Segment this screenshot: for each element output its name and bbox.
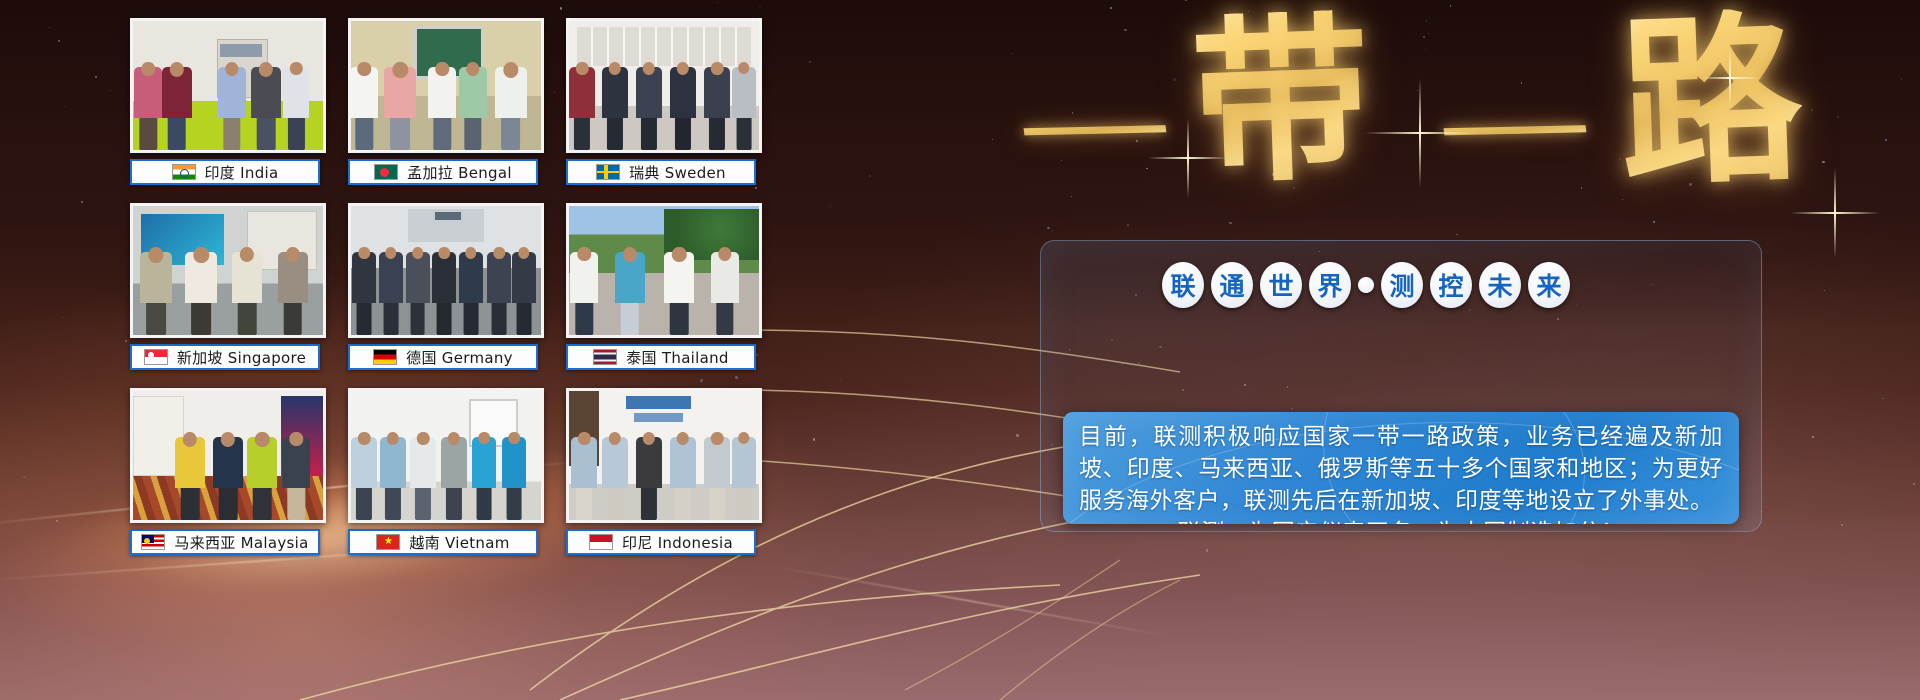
country-photo-bengal[interactable] <box>348 18 544 153</box>
calligraphy-char-3: 一 <box>1436 100 1594 166</box>
flag-icon-in <box>172 164 196 180</box>
calligraphy-char-4: 路 <box>1617 7 1805 195</box>
slogan-char-8: 未 <box>1479 262 1521 308</box>
country-label-plate-india: 印度 India <box>130 159 320 185</box>
slogan-char-6: 测 <box>1381 262 1423 308</box>
gallery-card-sweden[interactable]: 瑞典 Sweden <box>566 18 762 187</box>
country-label-plate-germany: 德国 Germany <box>348 344 538 370</box>
country-photo-thailand[interactable] <box>566 203 762 338</box>
country-label-plate-sweden: 瑞典 Sweden <box>566 159 756 185</box>
flag-icon-se <box>596 164 620 180</box>
gallery-card-vietnam[interactable]: ★越南 Vietnam <box>348 388 544 557</box>
country-label-plate-vietnam: ★越南 Vietnam <box>348 529 538 555</box>
country-label-text: 马来西亚 Malaysia <box>174 532 308 553</box>
country-label-text: 泰国 Thailand <box>626 347 729 368</box>
gallery-card-germany[interactable]: 德国 Germany <box>348 203 544 372</box>
description-panel: 目前，联测积极响应国家一带一路政策，业务已经遍及新加坡、印度、马来西亚、俄罗斯等… <box>1063 412 1739 524</box>
calligraphy-char-1: 一 <box>1016 100 1174 166</box>
country-label-plate-bengal: 孟加拉 Bengal <box>348 159 538 185</box>
country-label-plate-malaysia: 马来西亚 Malaysia <box>130 529 320 555</box>
country-label-text: 孟加拉 Bengal <box>407 162 512 183</box>
flag-icon-id <box>589 534 613 550</box>
flag-icon-sg <box>144 349 168 365</box>
country-label-text: 新加坡 Singapore <box>177 347 306 368</box>
flag-icon-bd <box>374 164 398 180</box>
country-photo-germany[interactable] <box>348 203 544 338</box>
country-label-text: 印度 India <box>205 162 279 183</box>
country-label-text: 越南 Vietnam <box>409 532 509 553</box>
country-label-text: 瑞典 Sweden <box>629 162 726 183</box>
slogan-char-7: 控 <box>1430 262 1472 308</box>
country-label-text: 印尼 Indonesia <box>622 532 733 553</box>
flag-icon-my <box>141 534 165 550</box>
gallery-card-bengal[interactable]: 孟加拉 Bengal <box>348 18 544 187</box>
country-label-plate-indonesia: 印尼 Indonesia <box>566 529 756 555</box>
slogan-separator-dot <box>1358 277 1374 293</box>
slogan-char-1: 联 <box>1162 262 1204 308</box>
slogan-char-4: 界 <box>1309 262 1351 308</box>
gallery-card-india[interactable]: 印度 India <box>130 18 326 187</box>
slogan-char-3: 世 <box>1260 262 1302 308</box>
country-photo-indonesia[interactable] <box>566 388 762 523</box>
country-photo-malaysia[interactable] <box>130 388 326 523</box>
flag-icon-de <box>373 349 397 365</box>
country-label-plate-singapore: 新加坡 Singapore <box>130 344 320 370</box>
slogan-char-2: 通 <box>1211 262 1253 308</box>
country-photo-india[interactable] <box>130 18 326 153</box>
gallery-card-thailand[interactable]: 泰国 Thailand <box>566 203 762 372</box>
country-photo-gallery: 印度 India 孟加拉 Bengal 瑞典 Sweden 新加坡 Singap… <box>130 18 762 557</box>
country-photo-singapore[interactable] <box>130 203 326 338</box>
flag-icon-th <box>593 349 617 365</box>
calligraphy-char-2: 带 <box>1189 9 1373 193</box>
slogan-char-9: 来 <box>1528 262 1570 308</box>
country-label-plate-thailand: 泰国 Thailand <box>566 344 756 370</box>
gallery-card-singapore[interactable]: 新加坡 Singapore <box>130 203 326 372</box>
flag-icon-vn: ★ <box>376 534 400 550</box>
gallery-card-indonesia[interactable]: 印尼 Indonesia <box>566 388 762 557</box>
gallery-card-malaysia[interactable]: 马来西亚 Malaysia <box>130 388 326 557</box>
country-label-text: 德国 Germany <box>406 347 513 368</box>
banner-canvas: 印度 India 孟加拉 Bengal 瑞典 Sweden 新加坡 Singap… <box>0 0 1920 700</box>
country-photo-sweden[interactable] <box>566 18 762 153</box>
country-photo-vietnam[interactable] <box>348 388 544 523</box>
description-text-line-1: 目前，联测积极响应国家一带一路政策，业务已经遍及新加坡、印度、马来西亚、俄罗斯等… <box>1079 421 1723 517</box>
slogan-badges: 联通世界测控未来 <box>1162 262 1570 308</box>
description-text-line-2: 联测，为国产仪表正名，为中国制造加分！ <box>1079 517 1723 524</box>
belt-and-road-calligraphy: 一 带 一 路 <box>1020 0 1880 215</box>
